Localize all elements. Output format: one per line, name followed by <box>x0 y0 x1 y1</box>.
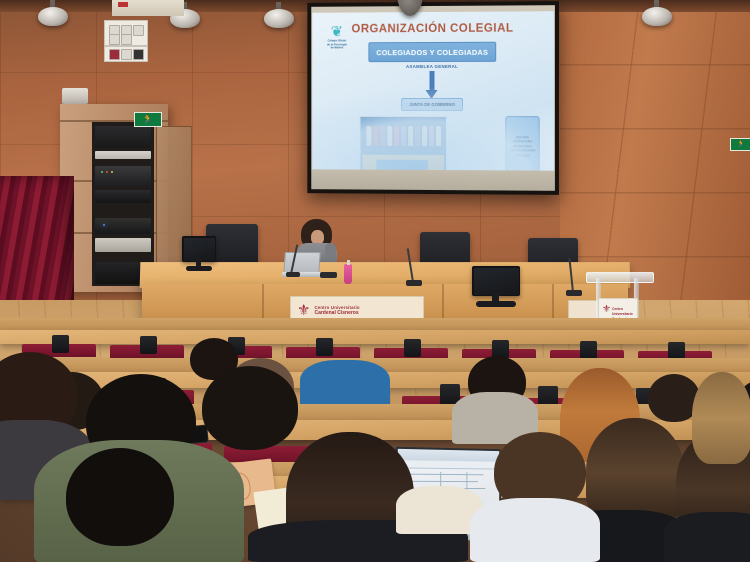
rack-monitor <box>95 126 151 148</box>
rack-panel <box>95 238 151 252</box>
running-man-icon: 🏃 <box>142 115 153 124</box>
screen-bottom-shade <box>311 169 555 190</box>
audience-head <box>202 366 298 450</box>
rack-amplifier <box>95 190 151 203</box>
running-man-icon: 🏃 <box>737 140 746 149</box>
audience-shoulders <box>664 512 750 562</box>
logo-line-3: de Madrid <box>321 47 353 51</box>
ceiling-indicator <box>118 2 128 7</box>
audience-hair-long <box>692 372 750 464</box>
presidium-monitor <box>182 236 216 262</box>
table-device <box>320 272 337 278</box>
presidium-monitor <box>472 266 520 296</box>
monitor-foot <box>186 266 212 271</box>
water-bottle <box>344 264 352 284</box>
presentation-slide: ❦ Colegio Oficial de la Psicología de Ma… <box>312 11 554 170</box>
lectern-sign-line-1: Centro Universitario <box>612 307 633 316</box>
exit-sign-icon: 🏃 <box>134 112 162 127</box>
track-light <box>640 0 674 26</box>
spacer <box>178 440 188 450</box>
right-wall <box>560 0 750 300</box>
slide-box-colegiados: COLEGIADOS Y COLEGIADAS <box>368 42 496 62</box>
slide-arrow-label: ASAMBLEA GENERAL <box>312 64 554 70</box>
lecture-hall-photo: ❦ Colegio Oficial de la Psicología de Ma… <box>0 0 750 562</box>
wall-socket-plate[interactable] <box>104 20 148 46</box>
stage-curtain <box>0 176 74 320</box>
cisneros-logo-icon: ⚜ <box>297 304 310 317</box>
down-arrow-icon <box>430 71 435 91</box>
slide-side-box-text: DECANO VICEDECANA SECRETARIA VICESECRETA… <box>509 135 535 157</box>
cisneros-logo-icon: ⚜ <box>602 305 611 314</box>
venue-sign-line-2: Cardenal Cisneros <box>314 310 359 316</box>
rack-player <box>95 218 151 234</box>
exit-sign-icon: 🏃 <box>730 138 750 151</box>
board-group-photo <box>360 116 447 171</box>
audience-shoulders <box>300 360 390 410</box>
projection-screen: ❦ Colegio Oficial de la Psicología de Ma… <box>307 1 559 195</box>
wall-speaker <box>62 88 88 104</box>
wall-connector-plate[interactable] <box>104 46 148 62</box>
track-light <box>36 0 70 26</box>
audience-shoulders <box>470 498 600 562</box>
track-light <box>262 2 296 28</box>
rack-keyboard-tray <box>95 151 151 159</box>
slide-title: ORGANIZACIÓN COLEGIAL <box>312 22 554 35</box>
microphone-base <box>286 272 300 277</box>
rack-mixer <box>95 166 151 187</box>
slide-side-box: DECANO VICEDECANA SECRETARIA VICESECRETA… <box>505 116 539 171</box>
microphone-base <box>566 290 582 296</box>
microphone-base <box>406 280 422 286</box>
audience-head <box>66 448 174 546</box>
slide-box-junta: JUNTA DE GOBIERNO <box>401 98 463 111</box>
monitor-foot <box>476 301 516 307</box>
